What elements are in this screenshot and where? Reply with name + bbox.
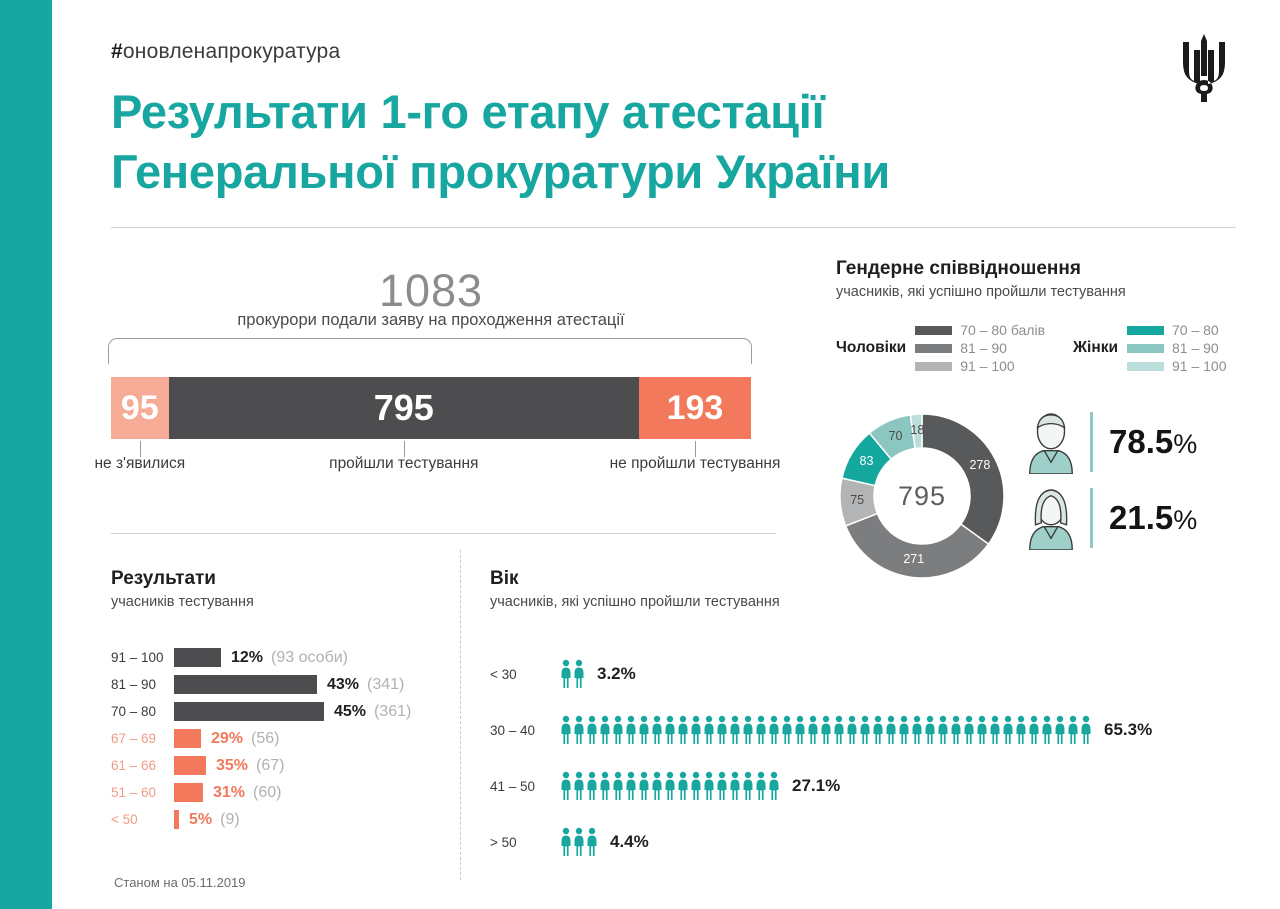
ratio-divider	[1090, 412, 1093, 472]
page-title: Результати 1-го етапу атестації Генераль…	[111, 82, 1151, 201]
women-legend-items: 70 – 8081 – 9091 – 100	[1127, 322, 1227, 374]
hash-symbol: #	[111, 40, 123, 63]
age-row: > 504.4%	[490, 814, 1250, 870]
gender-donut-chart: 795 27827175837018	[822, 396, 1022, 596]
person-icon	[768, 771, 780, 801]
person-icon	[937, 715, 949, 745]
results-bar	[174, 648, 221, 667]
person-icon	[898, 715, 910, 745]
person-icon	[599, 771, 611, 801]
men-legend-item-1: 70 – 80 балів	[915, 322, 1045, 338]
results-count: (67)	[256, 757, 284, 775]
results-percent: 43%	[327, 676, 359, 694]
person-icon	[560, 659, 572, 689]
person-icon	[664, 771, 676, 801]
person-icon	[560, 715, 572, 745]
gender-section: Гендерне співвідношення учасників, які у…	[836, 258, 1256, 374]
person-icon	[703, 715, 715, 745]
person-icon	[573, 827, 585, 857]
person-icon	[729, 715, 741, 745]
women-legend-item-3: 91 – 100	[1127, 358, 1227, 374]
results-count: (361)	[374, 703, 411, 721]
results-row: < 505%(9)	[111, 806, 441, 833]
women-legend-item-1: 70 – 80	[1127, 322, 1227, 338]
hashtag-text: оновленапрокуратура	[123, 40, 340, 63]
legend-label: 91 – 100	[1172, 358, 1227, 374]
person-icon	[911, 715, 923, 745]
bar-segment-2: 795	[169, 377, 639, 439]
person-icon	[560, 827, 572, 857]
male-avatar-icon	[1022, 410, 1080, 474]
person-icon	[651, 771, 663, 801]
gender-ratio-row-2: 21.5%	[1022, 480, 1197, 556]
divider-middle	[111, 533, 776, 534]
person-icon	[586, 827, 598, 857]
person-icon	[690, 771, 702, 801]
legend-swatch	[915, 326, 952, 335]
results-range: 70 – 80	[111, 704, 174, 719]
person-icon	[924, 715, 936, 745]
results-count: (9)	[220, 811, 240, 829]
men-label: Чоловіки	[836, 339, 906, 357]
men-legend-item-2: 81 – 90	[915, 340, 1045, 356]
age-percent: 27.1%	[792, 776, 840, 796]
legend-swatch	[1127, 326, 1164, 335]
results-row: 91 – 10012%(93 особи)	[111, 644, 441, 671]
donut-label-6: 18	[897, 423, 937, 437]
person-icon	[976, 715, 988, 745]
infographic-page: #оновленапрокуратура Результати 1-го ета…	[0, 0, 1280, 909]
results-percent: 29%	[211, 730, 243, 748]
age-subtitle: учасників, які успішно пройшли тестуванн…	[490, 594, 1250, 610]
legend-swatch	[1127, 344, 1164, 353]
results-count: (341)	[367, 676, 404, 694]
person-icon	[820, 715, 832, 745]
person-icon	[989, 715, 1001, 745]
age-percent: 65.3%	[1104, 720, 1152, 740]
bar-segment-3: 193	[639, 377, 751, 439]
age-pictogram	[560, 771, 780, 801]
page-title-line1: Результати 1-го етапу атестації	[111, 82, 1151, 142]
person-icon	[612, 771, 624, 801]
results-percent: 31%	[213, 784, 245, 802]
donut-label-3: 75	[837, 493, 877, 507]
person-icon	[1041, 715, 1053, 745]
results-bar	[174, 729, 201, 748]
person-icon	[625, 715, 637, 745]
ukraine-trident-emblem	[1176, 32, 1232, 104]
legend-label: 70 – 80 балів	[960, 322, 1045, 338]
results-count: (60)	[253, 784, 281, 802]
person-icon	[950, 715, 962, 745]
gender-ratio-row-1: 78.5%	[1022, 404, 1197, 480]
results-rows: 91 – 10012%(93 особи)81 – 9043%(341)70 –…	[111, 644, 441, 833]
bar-segment-label: не з'явилися	[20, 455, 260, 473]
person-icon	[963, 715, 975, 745]
person-icon	[768, 715, 780, 745]
person-icon	[664, 715, 676, 745]
results-range: 61 – 66	[111, 758, 174, 773]
person-icon	[846, 715, 858, 745]
person-icon	[1002, 715, 1014, 745]
age-pictogram	[560, 659, 585, 689]
age-range: < 30	[490, 667, 560, 682]
person-icon	[1015, 715, 1027, 745]
results-title: Результати	[111, 568, 441, 590]
person-icon	[1080, 715, 1092, 745]
person-icon	[586, 771, 598, 801]
hashtag: #оновленапрокуратура	[111, 40, 340, 64]
results-count: (93 особи)	[271, 649, 348, 667]
person-icon	[1028, 715, 1040, 745]
divider-vertical-dashed	[460, 550, 461, 880]
person-icon	[833, 715, 845, 745]
results-range: 91 – 100	[111, 650, 174, 665]
person-icon	[885, 715, 897, 745]
results-section: Результати учасників тестування 91 – 100…	[111, 568, 441, 833]
ratio-divider	[1090, 488, 1093, 548]
person-icon	[573, 771, 585, 801]
results-percent: 35%	[216, 757, 248, 775]
results-subtitle: учасників тестування	[111, 594, 441, 610]
results-row: 70 – 8045%(361)	[111, 698, 441, 725]
age-rows: < 303.2%30 – 4065.3%41 – 5027.1%> 504.4%	[490, 646, 1250, 870]
footer-asof: Станом на 05.11.2019	[114, 875, 246, 890]
person-icon	[612, 715, 624, 745]
person-icon	[638, 715, 650, 745]
bracket-line	[108, 338, 752, 364]
legend-label: 81 – 90	[1172, 340, 1219, 356]
person-icon	[703, 771, 715, 801]
legend-swatch	[1127, 362, 1164, 371]
age-pictogram	[560, 827, 598, 857]
gender-ratio-rows: 78.5%21.5%	[1022, 404, 1197, 556]
legend-swatch	[915, 362, 952, 371]
results-range: 81 – 90	[111, 677, 174, 692]
person-icon	[794, 715, 806, 745]
person-icon	[677, 715, 689, 745]
person-icon	[573, 659, 585, 689]
results-bar	[174, 783, 203, 802]
donut-label-2: 271	[894, 552, 934, 566]
results-percent: 5%	[189, 811, 212, 829]
bar-segment-label: не пройшли тестування	[575, 455, 815, 473]
total-applicants-number: 1083	[111, 265, 751, 317]
age-row: 30 – 4065.3%	[490, 702, 1250, 758]
results-range: 67 – 69	[111, 731, 174, 746]
results-row: 81 – 9043%(341)	[111, 671, 441, 698]
results-bar	[174, 675, 317, 694]
age-title: Вік	[490, 568, 1250, 590]
results-row: 51 – 6031%(60)	[111, 779, 441, 806]
age-row: < 303.2%	[490, 646, 1250, 702]
page-title-line2: Генеральної прокуратури України	[111, 142, 1151, 202]
person-icon	[729, 771, 741, 801]
results-bar	[174, 756, 206, 775]
legend-label: 70 – 80	[1172, 322, 1219, 338]
person-icon	[625, 771, 637, 801]
bar-segment-1: 95	[111, 377, 169, 439]
age-percent: 3.2%	[597, 664, 636, 684]
person-icon	[859, 715, 871, 745]
results-percent: 45%	[334, 703, 366, 721]
ratio-value: 78.5%	[1109, 423, 1197, 461]
person-icon	[573, 715, 585, 745]
results-percent: 12%	[231, 649, 263, 667]
age-range: 30 – 40	[490, 723, 560, 738]
total-applicants-caption: прокурори подали заяву на проходження ат…	[111, 311, 751, 330]
results-range: 51 – 60	[111, 785, 174, 800]
ratio-value: 21.5%	[1109, 499, 1197, 537]
person-icon	[677, 771, 689, 801]
results-row: 67 – 6929%(56)	[111, 725, 441, 752]
age-section: Вік учасників, які успішно пройшли тесту…	[490, 568, 1250, 870]
person-icon	[807, 715, 819, 745]
men-legend-items: 70 – 80 балів81 – 9091 – 100	[915, 322, 1045, 374]
person-icon	[690, 715, 702, 745]
person-icon	[1067, 715, 1079, 745]
person-icon	[716, 771, 728, 801]
gender-subtitle: учасників, які успішно пройшли тестуванн…	[836, 284, 1256, 300]
women-label: Жінки	[1073, 339, 1118, 357]
age-range: > 50	[490, 835, 560, 850]
divider-top	[111, 227, 1236, 228]
gender-title: Гендерне співвідношення	[836, 258, 1256, 280]
person-icon	[755, 771, 767, 801]
gender-legend: Чоловіки 70 – 80 балів81 – 9091 – 100 Жі…	[836, 322, 1256, 374]
person-icon	[716, 715, 728, 745]
legend-label: 91 – 100	[960, 358, 1015, 374]
results-row: 61 – 6635%(67)	[111, 752, 441, 779]
stacked-bar-chart: 95795193	[111, 377, 751, 439]
female-avatar-icon	[1022, 486, 1080, 550]
person-icon	[872, 715, 884, 745]
age-row: 41 – 5027.1%	[490, 758, 1250, 814]
person-icon	[781, 715, 793, 745]
donut-label-1: 278	[960, 458, 1000, 472]
donut-label-4: 83	[846, 454, 886, 468]
person-icon	[1054, 715, 1066, 745]
person-icon	[742, 771, 754, 801]
results-range: < 50	[111, 812, 174, 827]
results-bar	[174, 702, 324, 721]
legend-swatch	[915, 344, 952, 353]
age-range: 41 – 50	[490, 779, 560, 794]
age-pictogram	[560, 715, 1092, 745]
results-bar	[174, 810, 179, 829]
person-icon	[742, 715, 754, 745]
men-legend-item-3: 91 – 100	[915, 358, 1045, 374]
women-legend-item-2: 81 – 90	[1127, 340, 1227, 356]
bar-segment-label: пройшли тестування	[284, 455, 524, 473]
age-percent: 4.4%	[610, 832, 649, 852]
women-legend-group: Жінки 70 – 8081 – 9091 – 100	[1073, 322, 1226, 374]
person-icon	[755, 715, 767, 745]
person-icon	[638, 771, 650, 801]
results-count: (56)	[251, 730, 279, 748]
person-icon	[651, 715, 663, 745]
person-icon	[599, 715, 611, 745]
men-legend-group: Чоловіки 70 – 80 балів81 – 9091 – 100	[836, 322, 1045, 374]
legend-label: 81 – 90	[960, 340, 1007, 356]
person-icon	[586, 715, 598, 745]
person-icon	[560, 771, 572, 801]
